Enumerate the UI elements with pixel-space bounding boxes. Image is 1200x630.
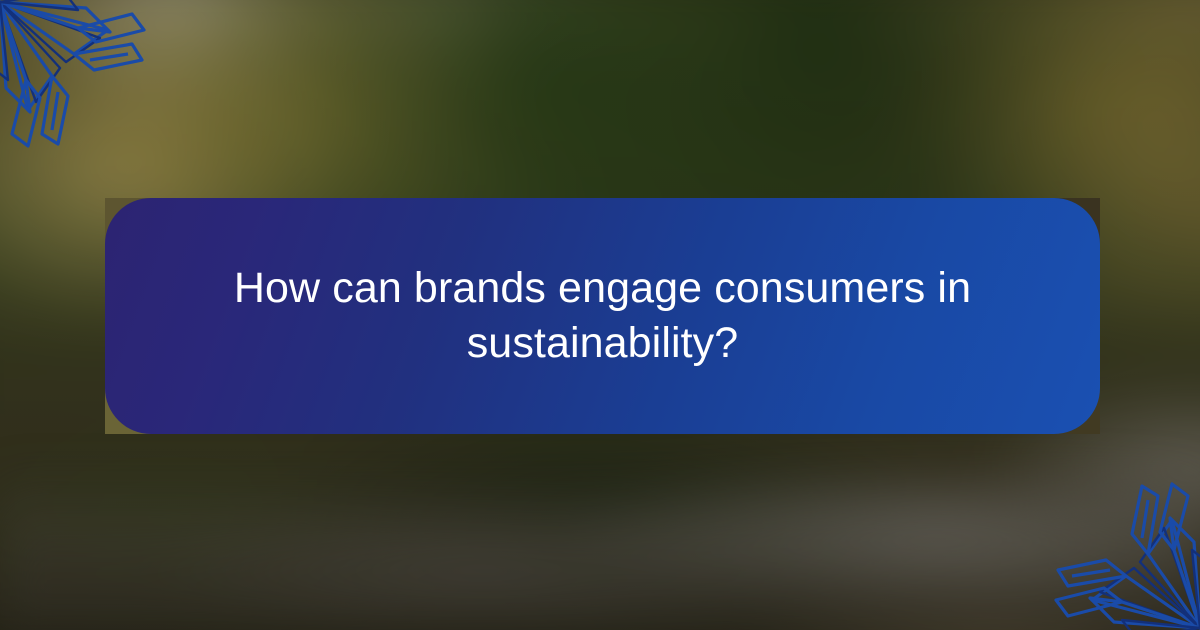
corner-ornament-bottom-right-icon [1028, 456, 1200, 630]
social-quote-card-canvas: How can brands engage consumers in susta… [0, 0, 1200, 630]
quote-text: How can brands engage consumers in susta… [173, 261, 1033, 371]
corner-ornament-top-left-icon [0, 0, 172, 174]
quote-card: How can brands engage consumers in susta… [105, 198, 1100, 434]
